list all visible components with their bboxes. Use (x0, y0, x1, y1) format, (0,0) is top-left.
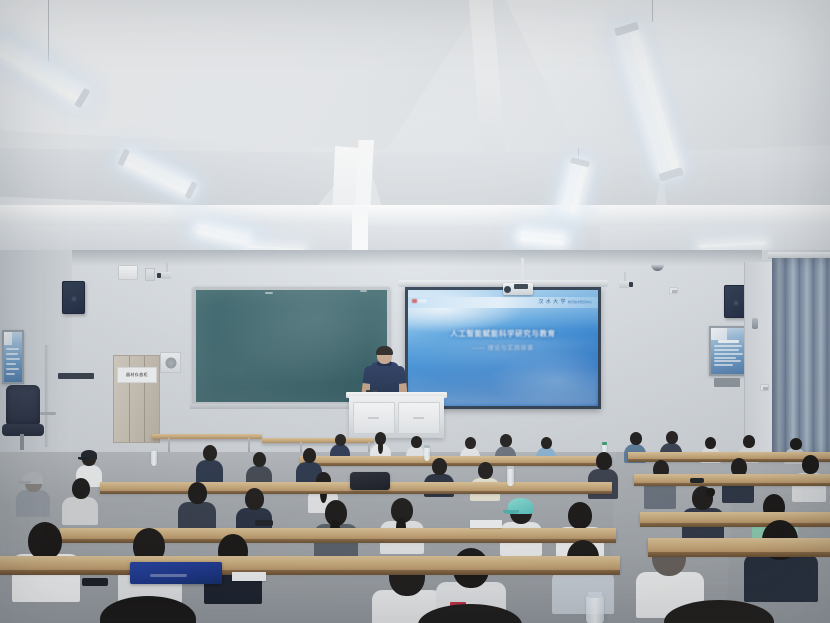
audience-member-foreground (100, 596, 196, 623)
wall-small-box (145, 268, 155, 281)
chalk-piece (360, 290, 367, 292)
poster-text-line (714, 360, 741, 362)
smartphone[interactable] (690, 478, 704, 483)
desk-front-edge (0, 570, 620, 575)
podium-handle[interactable] (413, 417, 424, 419)
person-head (245, 488, 264, 510)
coffered-ceiling (0, 0, 830, 262)
poster-stand-base (714, 378, 740, 387)
cabinet-label-text: 器材存放柜 (126, 372, 148, 378)
poster-text-line (714, 364, 733, 366)
poster-text-line (714, 353, 743, 355)
bottle-cap (507, 466, 514, 469)
slide-logo-text: 汉 水 大 学 (538, 298, 566, 305)
audience-member (744, 520, 818, 600)
wall-ceiling-shadow (0, 250, 830, 266)
poster-header-block (4, 332, 12, 345)
window-curtain[interactable] (772, 258, 830, 458)
bottle-cap (588, 592, 602, 598)
audience-member-foreground (664, 600, 774, 623)
projector-lens (504, 286, 511, 293)
person-head (28, 522, 62, 560)
person-head (203, 445, 217, 461)
slide-logo-subtext: 教育技术研究中心 (568, 300, 592, 304)
handout-sheet (232, 572, 266, 581)
audience-member (16, 472, 50, 516)
smartphone[interactable] (82, 578, 108, 586)
person-head (596, 452, 612, 470)
person-torso (62, 497, 98, 525)
person-hair-bun (706, 488, 715, 497)
audience-member (470, 462, 500, 500)
slide-corner-badge (412, 299, 427, 303)
cap-brim (18, 481, 31, 484)
poster-text-line (6, 373, 15, 375)
office-chair-arm (40, 412, 56, 415)
person-torso (196, 460, 223, 484)
person-torso (552, 570, 614, 614)
projector-mount-pole (521, 258, 524, 285)
security-camera-right (619, 281, 630, 288)
poster-heading-line (718, 340, 738, 343)
poster-header-block (711, 328, 727, 340)
person-head (303, 448, 316, 463)
poster-text-line (6, 358, 20, 360)
water-bottle (507, 468, 514, 486)
office-chair-back[interactable] (6, 385, 40, 425)
camera-mount-left (166, 263, 168, 272)
ceiling-projector (503, 283, 533, 295)
person-head (666, 431, 678, 444)
person-head (743, 435, 755, 448)
ceiling-beam (468, 0, 506, 158)
table-surface (262, 438, 374, 443)
person-head (664, 600, 774, 623)
poster-text-line (714, 357, 736, 359)
front-table (262, 438, 374, 443)
wall-speaker-left (62, 281, 85, 314)
notice-poster-left (2, 330, 24, 384)
person-head (100, 596, 196, 623)
projection-screen: 汉 水 大 学 教育技术研究中心 人工智能赋能科学研究与教育 —— 理论与实践探… (405, 287, 601, 409)
power-outlet-right (760, 384, 769, 391)
poster-text-line (714, 345, 742, 347)
handout-sheet (470, 520, 502, 528)
audience-member (246, 452, 272, 486)
presenter-hair (376, 346, 393, 355)
bottle-cap (602, 442, 607, 445)
slide-institution-logo: 汉 水 大 学 教育技术研究中心 (538, 298, 592, 305)
slide-subtitle: —— 理论与实践探索 (408, 343, 598, 352)
bottle-cap (424, 445, 430, 448)
slide-badge-white (418, 299, 427, 303)
person-torso (16, 490, 50, 517)
person-head (802, 455, 819, 474)
lecture-hall-photo: 汉 水 大 学 教育技术研究中心 人工智能赋能科学研究与教育 —— 理论与实践探… (0, 0, 830, 623)
person-head (500, 434, 512, 447)
person-head (418, 604, 522, 623)
door-handle[interactable] (752, 318, 758, 329)
person-torso (744, 554, 818, 602)
person-head (432, 458, 447, 475)
cabinet-label-sign: 器材存放柜 (117, 367, 157, 383)
person-head (335, 434, 346, 446)
person-head (411, 436, 422, 448)
camera-mount-right (624, 272, 626, 281)
poster-text-line (6, 363, 16, 365)
person-head (478, 462, 493, 479)
backpack (350, 472, 390, 490)
poster-text-line (714, 349, 739, 351)
wall-control-box (118, 265, 138, 280)
office-chair-post (20, 434, 24, 450)
fluorescent-tube (700, 241, 766, 247)
podium-door-left[interactable] (353, 402, 395, 434)
audience-member (500, 498, 542, 554)
slide-badge-red (412, 299, 417, 303)
power-outlet-wall (669, 287, 678, 294)
side-door[interactable] (744, 262, 774, 452)
desk-front-edge (100, 491, 612, 494)
chalkboard (193, 287, 390, 405)
blue-document-folder[interactable] (130, 562, 222, 584)
chalk-piece (265, 292, 273, 294)
person-head (188, 482, 207, 504)
poster-text-line (6, 368, 19, 370)
audience-member (552, 540, 614, 612)
podium-door-right[interactable] (398, 402, 440, 434)
desk-front-edge (648, 552, 830, 557)
ac-vent-left (160, 352, 181, 373)
cap-brim (78, 457, 89, 460)
audience-member (196, 445, 223, 483)
person-head (705, 437, 716, 449)
person-head (790, 438, 802, 450)
light-suspension-wire (48, 0, 49, 62)
bottle-cap (151, 448, 157, 451)
projector-top-panel (514, 284, 528, 289)
person-head (253, 452, 266, 467)
water-bottle (151, 450, 157, 466)
desk-front-edge (300, 463, 612, 466)
person-ponytail (378, 442, 383, 454)
cap-brim (503, 510, 519, 514)
desk-front-edge (634, 483, 830, 486)
notice-poster-right (709, 326, 747, 376)
audience-member (178, 482, 216, 530)
slide-title: 人工智能赋能科学研究与教育 (408, 328, 598, 339)
wall-vent-slot (58, 373, 94, 379)
audience-member-foreground (418, 604, 522, 623)
security-camera-left (160, 272, 171, 279)
smartphone[interactable] (255, 520, 273, 526)
podium-handle[interactable] (368, 417, 379, 419)
poster-text-line (6, 348, 20, 350)
person-head (465, 437, 476, 449)
audience-member (380, 498, 424, 552)
person-head (568, 502, 592, 529)
person-head (72, 478, 90, 499)
doorway-frame (45, 345, 49, 447)
audience-member (62, 478, 98, 524)
person-head (541, 437, 552, 449)
poster-text-line (6, 353, 18, 355)
podium-cabinet (349, 396, 444, 438)
water-bottle (586, 596, 604, 623)
person-head (630, 432, 642, 445)
